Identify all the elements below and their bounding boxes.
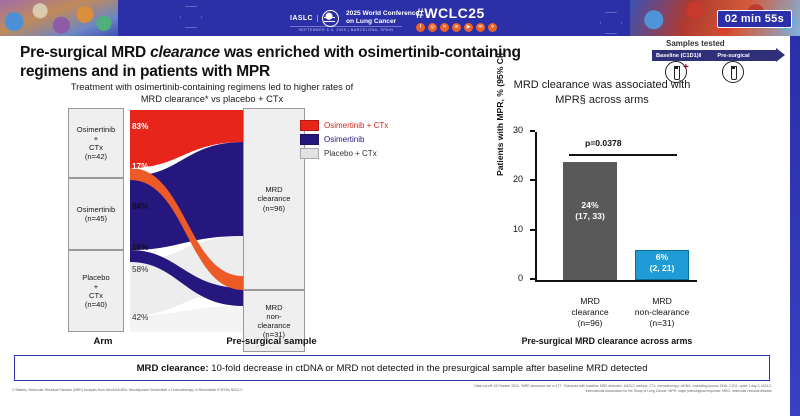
facebook-icon[interactable]: f — [416, 23, 425, 32]
flow-label-placebo-nonclearance: 42% — [132, 313, 148, 322]
globe-icon — [322, 10, 339, 27]
social-icon-row[interactable]: f ◎ ✕ in ▶ ✉ ⟡ — [416, 23, 497, 32]
sankey-source-node-placebo-ctx: Placebo+CTx(n=40) — [68, 250, 124, 332]
blood-tube-icon — [722, 61, 744, 83]
samples-timeline-arrow: Baseline (C1D1)‖ Pre-surgical — [652, 50, 776, 61]
rss-icon[interactable]: ⟡ — [488, 23, 497, 32]
legend-label: Placebo + CTx — [324, 149, 377, 158]
callout-body: 10-fold decrease in ctDNA or MRD not det… — [209, 363, 648, 374]
session-timer: 02 min 55s — [717, 10, 792, 28]
node-label: Placebo+CTx(n=40) — [82, 273, 109, 310]
p-value-label: p=0.0378 — [585, 138, 622, 148]
hex-decoration — [180, 6, 202, 28]
youtube-icon[interactable]: ▶ — [464, 23, 473, 32]
mrd-clearance-definition-callout: MRD clearance: 10-fold decrease in ctDNA… — [14, 355, 770, 381]
samples-tested-block: Samples tested Baseline (C1D1)‖ Pre-surg… — [652, 39, 792, 83]
y-tick-label-10: 10 — [513, 224, 523, 234]
flow-label-osi-ctx-clearance: 83% — [132, 122, 148, 131]
legend-swatch-navy — [300, 134, 319, 145]
slide-title: Pre-surgical MRD clearance was enriched … — [20, 43, 540, 81]
callout-text-wrapper: MRD clearance: 10-fold decrease in ctDNA… — [137, 363, 648, 374]
x-cat-2-line-2: non-clearance — [635, 307, 689, 317]
legend-label: Osimertinib + CTx — [324, 121, 388, 130]
sample-stage-presurgical: Pre-surgical — [717, 53, 749, 59]
x-icon[interactable]: ✕ — [440, 23, 449, 32]
conference-banner: IASLC 2025 World Conferenceon Lung Cance… — [0, 0, 800, 36]
conference-title: 2025 World Conferenceon Lung Cancer — [343, 10, 419, 25]
node-label: MRDclearance(n=96) — [258, 185, 291, 213]
y-tick-0: 0 — [530, 278, 535, 280]
conference-dates: SEPTEMBER 6-9, 2025 | BARCELONA, SPAIN — [290, 26, 402, 32]
slide-content: Pre-surgical MRD clearance was enriched … — [0, 36, 790, 416]
bar-ci-1: (17, 33) — [575, 211, 605, 221]
title-part-1: Pre-surgical MRD — [20, 44, 150, 61]
footnote-citation: C Blakely. Molecular Residual Disease (M… — [12, 388, 342, 393]
flow-label-osi-nonclearance: 16% — [132, 243, 148, 252]
bar-ci-2: (2, 21) — [650, 263, 675, 273]
sankey-axis-label-presurgical: Pre-surgical sample — [205, 336, 338, 347]
y-tick-label-20: 20 — [513, 174, 523, 184]
bar-value-group-2: 6% (2, 21) — [636, 252, 688, 273]
y-tick-label-30: 30 — [513, 125, 523, 135]
bar-mrd-non-clearance: 6% (2, 21) — [635, 250, 689, 280]
slide-screenshot: IASLC 2025 World Conferenceon Lung Cance… — [0, 0, 800, 416]
flow-label-placebo-clearance: 58% — [132, 265, 148, 274]
bar-chart-y-axis-label: Patients with MPR, % (95% CI) — [495, 53, 505, 176]
legend-item-placebo-ctx: Placebo + CTx — [300, 148, 388, 159]
samples-tested-heading: Samples tested — [666, 39, 792, 48]
bar-value-2: 6% — [656, 252, 668, 262]
y-tick-label-0: 0 — [518, 273, 523, 283]
p-value-line — [569, 154, 677, 156]
node-label: Osimertinib(n=45) — [77, 205, 115, 224]
linkedin-icon[interactable]: in — [452, 23, 461, 32]
title-emphasis: clearance — [150, 44, 220, 61]
instagram-icon[interactable]: ◎ — [428, 23, 437, 32]
node-label: Osimertinib+CTx(n=42) — [77, 125, 115, 162]
x-cat-2-line-1: MRD — [652, 296, 672, 306]
flow-label-osi-clearance: 84% — [132, 202, 148, 211]
bar-value-1: 24% — [581, 200, 598, 210]
x-cat-2-line-3: (n=31) — [649, 318, 674, 328]
slide-side-strip — [790, 36, 800, 416]
plus-icon: + — [683, 63, 689, 73]
legend-item-osimertinib-ctx: Osimertinib + CTx — [300, 120, 388, 131]
sankey-source-node-osimertinib: Osimertinib(n=45) — [68, 178, 124, 250]
x-category-label-2: MRD non-clearance (n=31) — [616, 296, 708, 330]
bar-chart: Patients with MPR, % (95% CI) 0 10 20 30… — [497, 124, 712, 329]
y-tick-30: 30 — [530, 130, 535, 132]
sankey-legend: Osimertinib + CTx Osimertinib Placebo + … — [300, 120, 388, 162]
bar-chart-x-axis-title: Pre-surgical MRD clearance across arms — [517, 336, 697, 347]
callout-bold: MRD clearance: — [137, 363, 209, 374]
legend-label: Osimertinib — [324, 135, 364, 144]
flow-label-osi-ctx-nonclearance: 17% — [132, 162, 148, 171]
sankey-target-node-mrd-clearance: MRDclearance(n=96) — [243, 108, 305, 290]
legend-swatch-grey — [300, 148, 319, 159]
bar-value-group-1: 24% (17, 33) — [563, 200, 617, 221]
y-tick-10: 10 — [530, 229, 535, 231]
legend-item-osimertinib: Osimertinib — [300, 134, 388, 145]
y-axis-line — [535, 132, 537, 282]
node-label: MRDnon-clearance(n=31) — [258, 303, 291, 340]
banner-photo-left — [0, 0, 118, 36]
x-cat-1-line-2: clearance — [571, 307, 608, 317]
sankey-axis-label-arm: Arm — [68, 336, 138, 347]
y-tick-20: 20 — [530, 179, 535, 181]
iaslc-abbr: IASLC — [290, 15, 318, 22]
x-cat-1-line-1: MRD — [580, 296, 600, 306]
x-cat-1-line-3: (n=96) — [577, 318, 602, 328]
bar-mrd-clearance: 24% (17, 33) — [563, 162, 617, 280]
sankey-panel-title: Treatment with osimertinib-containing re… — [62, 81, 362, 106]
footnote-abbreviations: Data cut-off: 15 October 2024. *MRD clea… — [472, 384, 772, 395]
sample-stage-baseline: Baseline (C1D1)‖ — [656, 53, 701, 59]
hex-decoration — [600, 12, 622, 34]
email-icon[interactable]: ✉ — [476, 23, 485, 32]
sankey-source-node-osimertinib-ctx: Osimertinib+CTx(n=42) — [68, 108, 124, 178]
bar-panel-title: MRD clearance was associated with MPR§ a… — [497, 78, 707, 107]
legend-swatch-red — [300, 120, 319, 131]
bar-chart-plot-area: 0 10 20 30 24% (17, 33) 6% — [535, 132, 695, 282]
x-axis-line — [535, 280, 697, 282]
conference-hashtag: #WCLC25 — [416, 5, 485, 21]
sankey-diagram: Osimertinib+CTx(n=42) Osimertinib(n=45) … — [68, 110, 338, 332]
